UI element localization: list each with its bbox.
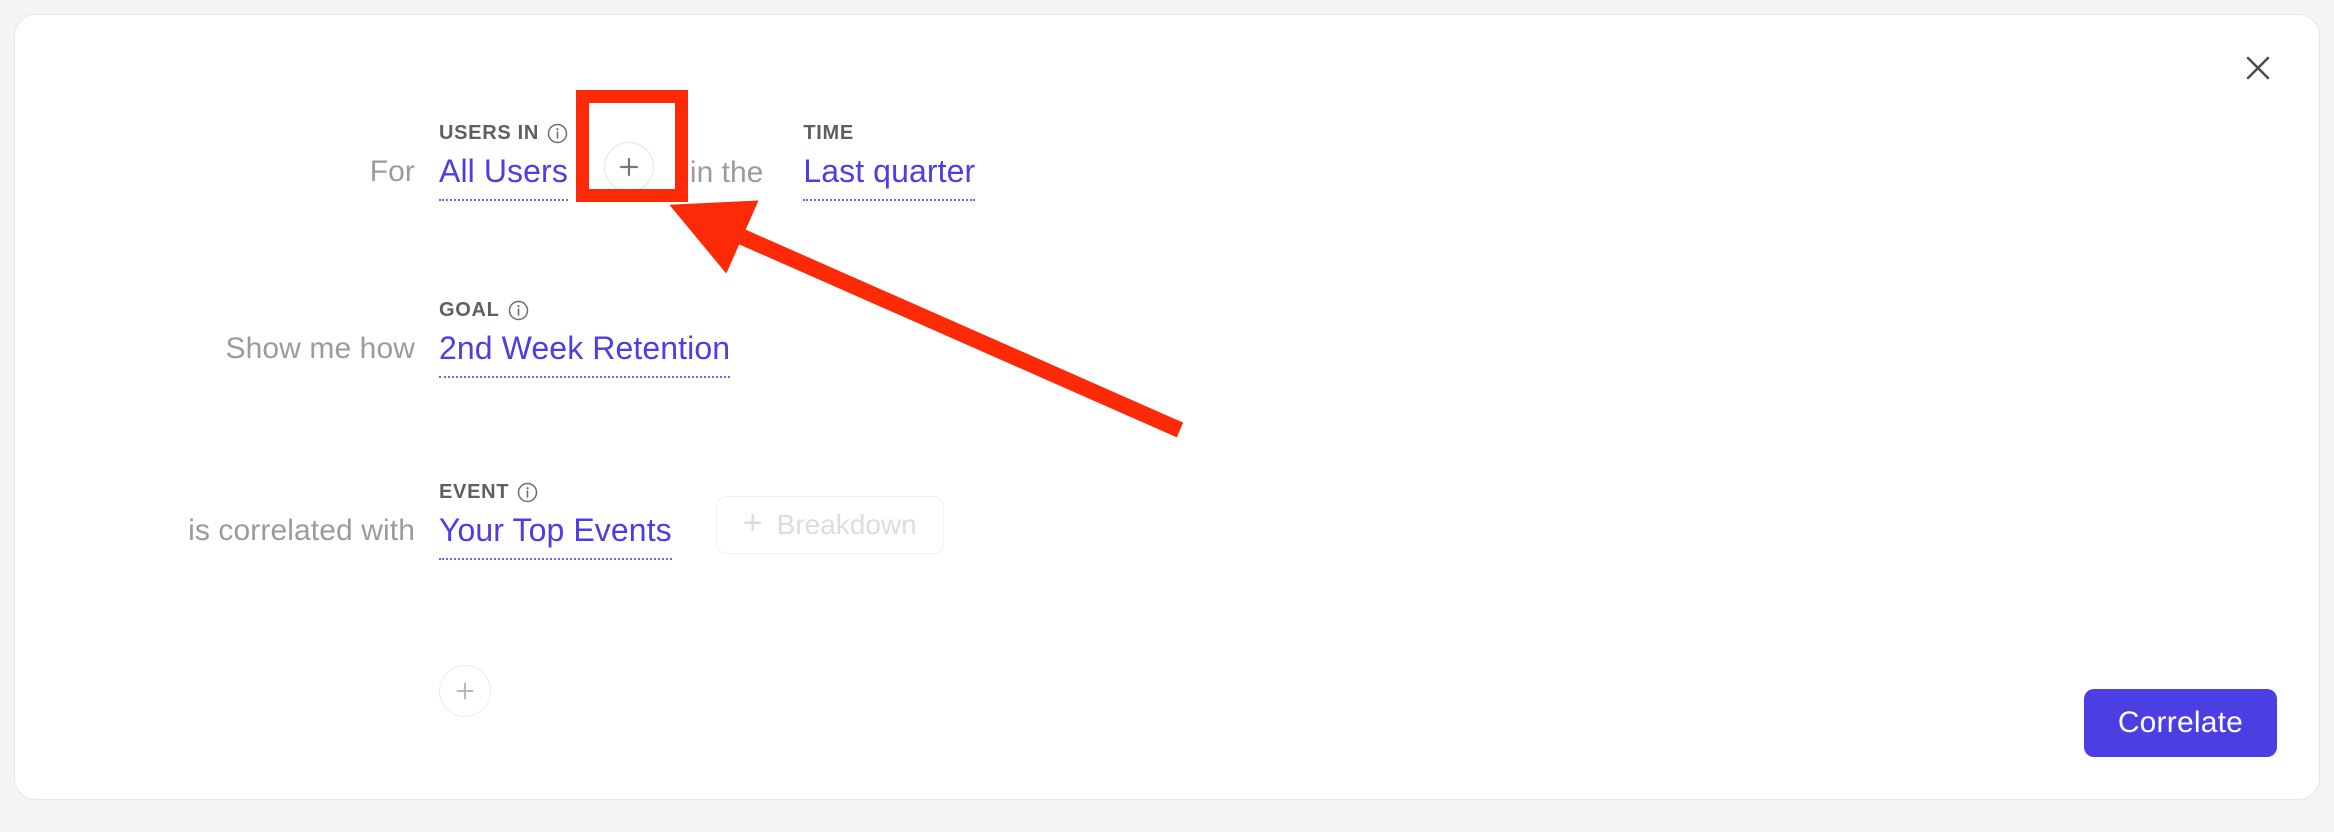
- field-label-text: TIME: [803, 122, 854, 145]
- add-cohort-plus-button[interactable]: [604, 142, 654, 192]
- row-prefix-for: For: [370, 155, 415, 189]
- add-cohort-plus-wrap: [604, 142, 654, 201]
- info-icon[interactable]: [517, 482, 538, 503]
- info-icon[interactable]: [547, 123, 568, 144]
- field-label-text: EVENT: [439, 481, 509, 504]
- field-label-time: TIME: [803, 122, 854, 145]
- plus-icon: +: [743, 506, 763, 540]
- field-value-users-in[interactable]: All Users: [439, 153, 568, 201]
- info-icon[interactable]: [508, 300, 529, 321]
- breakdown-label: Breakdown: [777, 509, 917, 541]
- row-prefix-show-me-how: Show me how: [225, 332, 415, 366]
- field-label-text: USERS IN: [439, 122, 539, 145]
- query-row-users: For USERS IN All Users: [15, 123, 975, 201]
- field-label-text: GOAL: [439, 299, 500, 322]
- breakdown-wrap: + Breakdown: [716, 496, 944, 560]
- field-time: TIME Last quarter: [803, 153, 975, 201]
- field-value-time[interactable]: Last quarter: [803, 153, 975, 201]
- field-event: EVENT Your Top Events: [439, 512, 672, 560]
- close-icon[interactable]: [2233, 43, 2283, 93]
- field-goal: GOAL 2nd Week Retention: [439, 330, 730, 378]
- field-users-in: USERS IN All Users: [439, 153, 568, 201]
- correlate-button[interactable]: Correlate: [2084, 689, 2277, 757]
- field-label-goal: GOAL: [439, 299, 529, 322]
- row-connector-in-the: in the: [690, 156, 763, 201]
- add-breakdown-button[interactable]: + Breakdown: [716, 496, 944, 554]
- field-value-event[interactable]: Your Top Events: [439, 512, 672, 560]
- row-prefix-is-correlated-with: is correlated with: [188, 514, 415, 548]
- screen-root: For USERS IN All Users: [0, 0, 2334, 832]
- field-value-goal[interactable]: 2nd Week Retention: [439, 330, 730, 378]
- query-row-goal: Show me how GOAL 2nd Week Retention: [15, 300, 730, 378]
- field-label-users-in: USERS IN: [439, 122, 568, 145]
- field-label-event: EVENT: [439, 481, 538, 504]
- query-row-event: is correlated with EVENT Your Top Event: [15, 482, 944, 560]
- correlation-panel-card: For USERS IN All Users: [14, 14, 2320, 800]
- add-query-row-button[interactable]: [439, 665, 491, 717]
